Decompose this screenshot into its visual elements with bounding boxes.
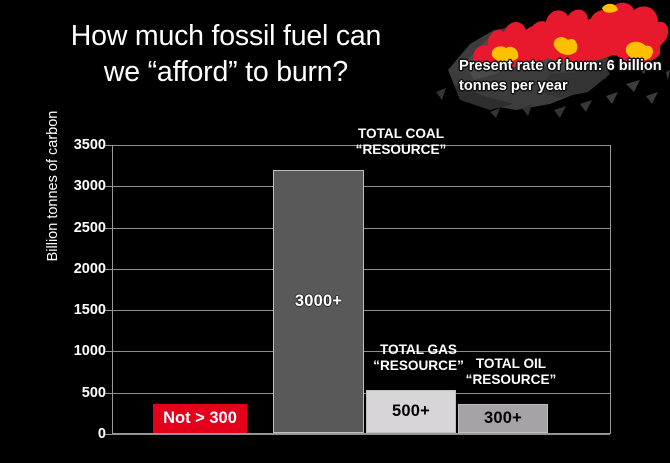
slide-canvas: How much fossil fuel can we “afford” to … [0,0,670,463]
y-tick-label-2500: 2500 [26,220,106,236]
fossil-fuel-bar-chart: Billion tonnes of carbon 050010001500200… [0,0,670,463]
y-tick-label-2000: 2000 [26,261,106,277]
gas-bar: 500+ [366,390,456,433]
coal-bar-caption: TOTAL COAL “RESOURCE” [316,126,486,158]
gridline-0 [113,434,610,435]
gas-bar-value: 500+ [392,402,430,421]
threshold-bar: Not > 300 [153,404,247,433]
y-tick-label-3500: 3500 [26,137,106,153]
oil-bar-caption: TOTAL OIL “RESOURCE” [451,356,571,388]
y-tick-label-1500: 1500 [26,302,106,318]
y-tick-label-0: 0 [26,426,106,442]
oil-caption-line-2: “RESOURCE” [451,372,571,388]
threshold-bar-value: Not > 300 [163,409,237,428]
plot-area: 2°C THRESHOLD Not > 300 TOTAL COAL “RESO… [112,145,611,434]
oil-bar: 300+ [458,404,548,433]
y-tick-label-3000: 3000 [26,178,106,194]
y-tick-label-1000: 1000 [26,343,106,359]
oil-bar-value: 300+ [484,409,522,428]
coal-caption-line-1: TOTAL COAL [316,126,486,142]
y-tick-mark-0 [105,434,113,435]
coal-bar-value: 3000+ [295,292,342,311]
oil-caption-line-1: TOTAL OIL [451,356,571,372]
y-tick-label-500: 500 [26,385,106,401]
coal-caption-line-2: “RESOURCE” [316,142,486,158]
coal-bar: 3000+ [273,170,364,433]
